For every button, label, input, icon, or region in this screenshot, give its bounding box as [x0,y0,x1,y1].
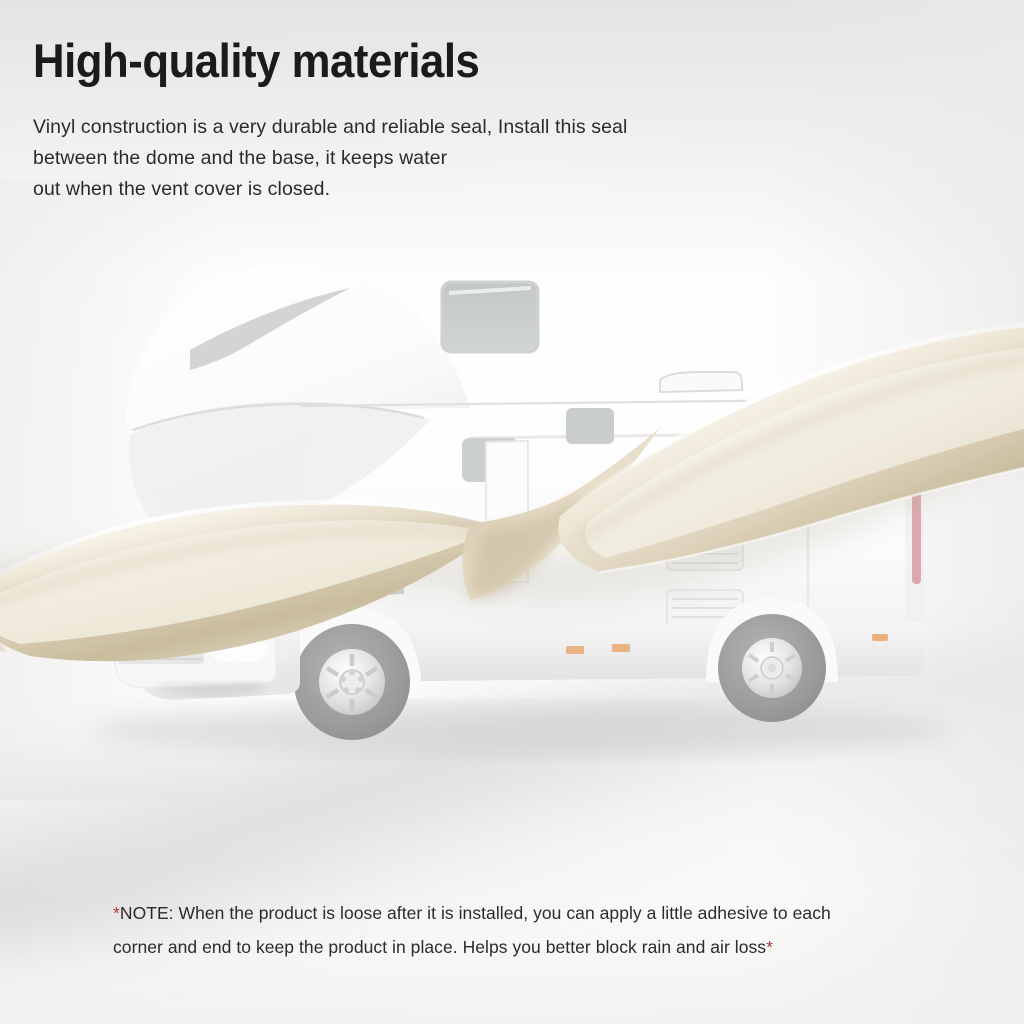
side-marker-light-front [612,644,630,652]
side-mirror [104,552,128,580]
front-wheel [294,624,410,740]
motorhome-illustration [0,230,1024,790]
description-line-1: Vinyl construction is a very durable and… [33,112,627,143]
note-leading-asterisk: * [113,903,120,923]
product-marketing-image: High-quality materials Vinyl constructio… [0,0,1024,1024]
entry-door [486,441,528,583]
description-line-3: out when the vent cover is closed. [33,174,627,205]
note-trailing-asterisk: * [766,937,773,957]
side-marker-light-rear [872,634,888,641]
a-pillar [296,530,308,606]
headlight [208,637,268,663]
note-line-2: corner and end to keep the product in pl… [113,930,913,964]
note-block: *NOTE: When the product is loose after i… [113,896,913,964]
vehicle-ground-shadow [90,704,950,756]
page-title: High-quality materials [33,36,479,87]
product-description: Vinyl construction is a very durable and… [33,112,627,205]
description-line-2: between the dome and the base, it keeps … [33,143,627,174]
rear-wheel [718,614,826,722]
note-text-2: corner and end to keep the product in pl… [113,937,766,957]
service-vent-upper [667,518,743,570]
rear-taillight [912,492,921,584]
cab-side-window [312,530,404,598]
door-lock-icon [497,550,502,555]
note-text-1: NOTE: When the product is loose after it… [120,903,831,923]
side-window-rear-upper [748,406,796,444]
note-line-1: *NOTE: When the product is loose after i… [113,896,913,930]
windshield [144,532,296,608]
roof-hatch [660,372,742,392]
side-window-mid [566,408,614,444]
fog-light [276,648,288,660]
side-marker-light-mid [566,646,584,654]
